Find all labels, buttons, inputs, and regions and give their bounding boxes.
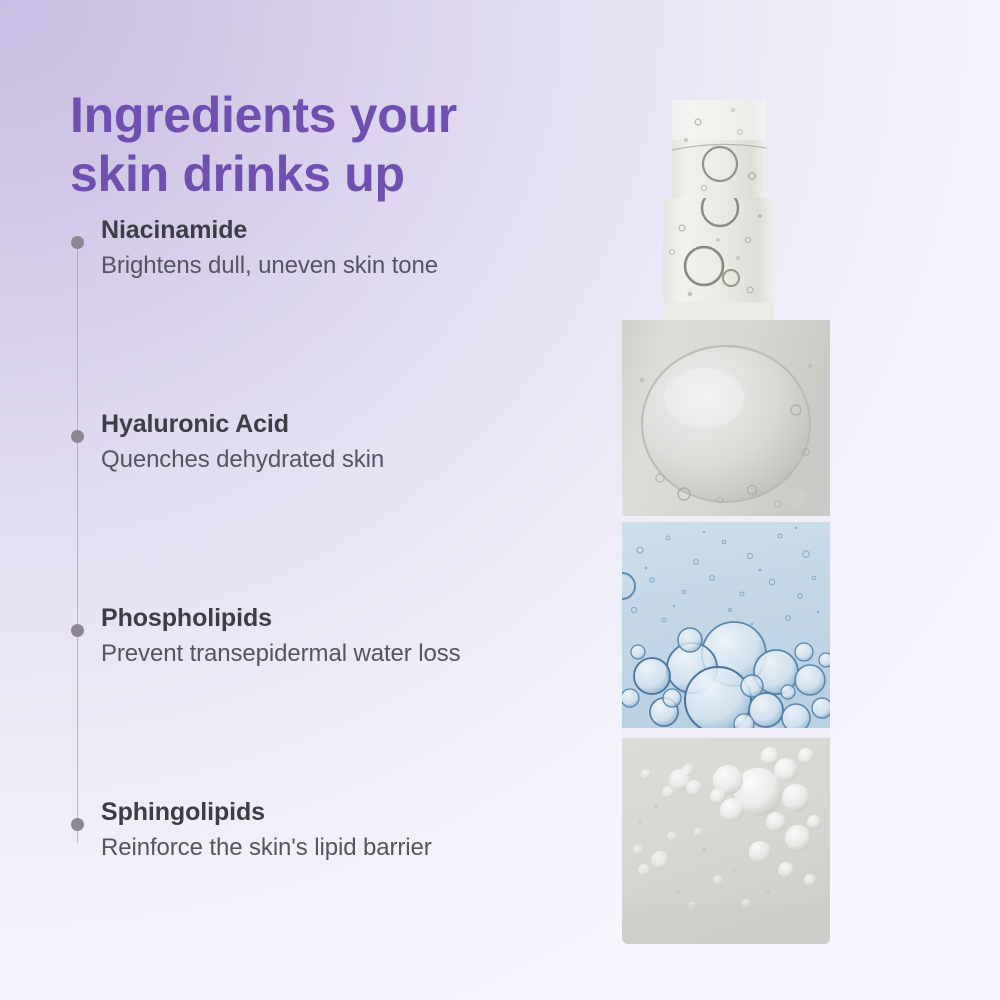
ingredient-description: Prevent transepidermal water loss: [101, 638, 610, 669]
segment-seam: [622, 728, 830, 738]
list-item: Hyaluronic Acid Quenches dehydrated skin: [70, 409, 610, 603]
ingredient-name: Hyaluronic Acid: [101, 409, 610, 440]
ingredient-description: Brightens dull, uneven skin tone: [101, 250, 610, 281]
bottle-body-upper-segment: [622, 320, 830, 522]
bottle-cap-top: [672, 100, 766, 198]
ingredient-description: Reinforce the skin's lipid barrier: [101, 832, 610, 863]
bullet-icon: [71, 430, 84, 443]
bottle-body-blue-segment: [609, 522, 833, 734]
bullet-icon: [71, 236, 84, 249]
ingredient-text-block: Phospholipids Prevent transepidermal wat…: [70, 603, 610, 669]
bottle-cap-shoulder: [663, 190, 775, 320]
page-title-line-2: skin drinks up: [70, 145, 590, 204]
bullet-icon: [71, 624, 84, 637]
ingredient-text-block: Sphingolipids Reinforce the skin's lipid…: [70, 797, 610, 863]
bullet-icon: [71, 818, 84, 831]
segment-seam: [622, 516, 830, 522]
ingredient-text-block: Niacinamide Brightens dull, uneven skin …: [70, 215, 610, 281]
product-bottle-image: [600, 80, 880, 960]
list-item: Phospholipids Prevent transepidermal wat…: [70, 603, 610, 797]
page-title: Ingredients your skin drinks up: [70, 86, 590, 204]
ingredient-name: Phospholipids: [101, 603, 610, 634]
page-title-line-1: Ingredients your: [70, 86, 590, 145]
poster-canvas: Ingredients your skin drinks up Niacinam…: [0, 0, 1000, 1000]
bottle-neck: [663, 302, 775, 322]
list-item: Niacinamide Brightens dull, uneven skin …: [70, 215, 610, 409]
bottle-body-lower-segment: [622, 738, 830, 944]
ingredient-list: Niacinamide Brightens dull, uneven skin …: [70, 215, 610, 863]
ingredient-text-block: Hyaluronic Acid Quenches dehydrated skin: [70, 409, 610, 475]
ingredient-name: Niacinamide: [101, 215, 610, 246]
ingredient-name: Sphingolipids: [101, 797, 610, 828]
ingredient-description: Quenches dehydrated skin: [101, 444, 610, 475]
list-item: Sphingolipids Reinforce the skin's lipid…: [70, 797, 610, 863]
